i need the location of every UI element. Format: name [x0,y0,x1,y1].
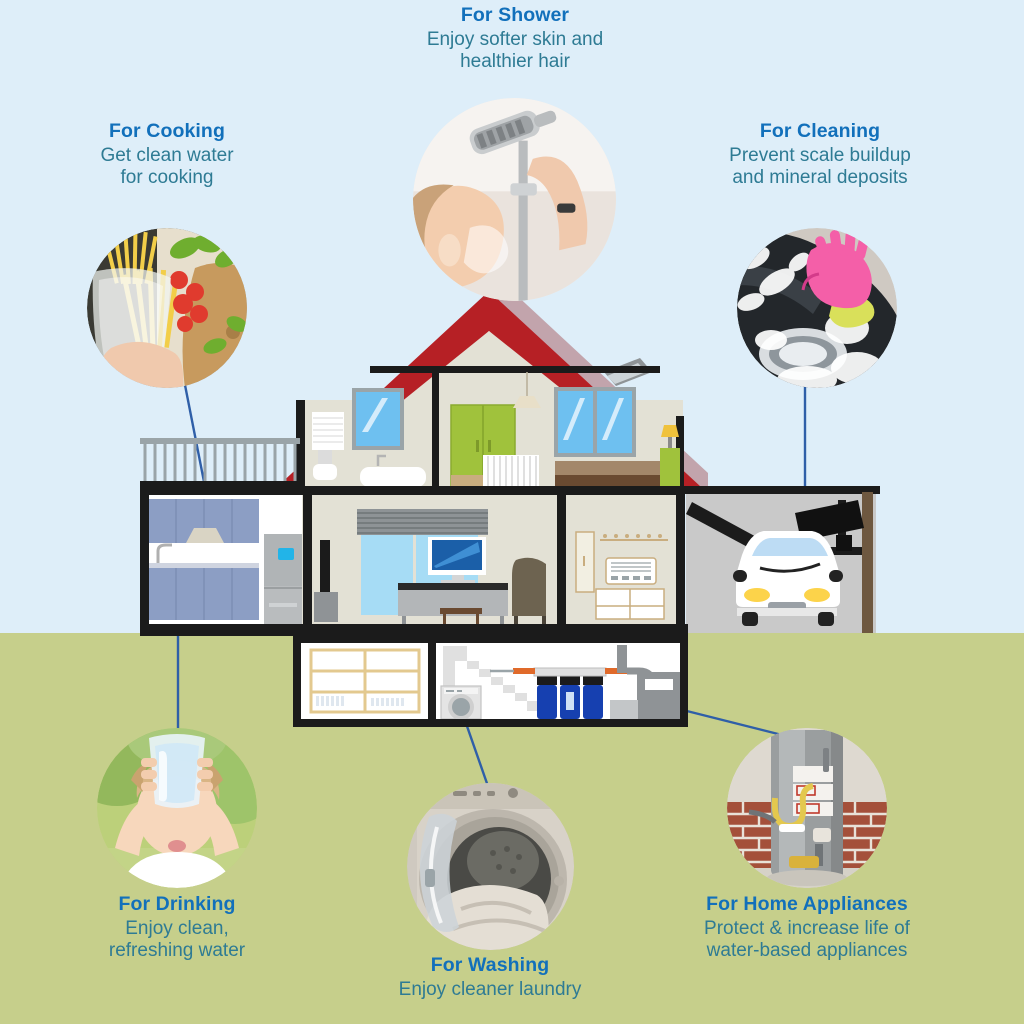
callout-drinking-title: For Drinking [47,893,307,916]
car [733,531,843,626]
photo-washing [407,783,574,950]
callout-drinking-desc: Enjoy clean, refreshing water [47,918,307,963]
infographic-canvas: For Shower Enjoy softer skin and healthi… [0,0,1024,1024]
callout-appliances-desc: Protect & increase life of water-based a… [657,918,957,963]
attic-floor [240,331,684,488]
callout-drinking: For Drinking Enjoy clean, refreshing wat… [47,893,307,963]
callout-cleaning-desc: Prevent scale buildup and mineral deposi… [680,145,960,190]
photo-appliances-art [727,728,887,888]
callout-cooking: For Cooking Get clean water for cooking [42,120,292,190]
callout-washing: For Washing Enjoy cleaner laundry [355,954,625,1001]
kitchen [149,495,302,624]
basement [293,636,688,726]
photo-drinking [97,728,257,888]
radiator-icon [483,455,539,488]
callout-shower-desc: Enjoy softer skin and healthier hair [370,29,660,74]
callout-appliances: For Home Appliances Protect & increase l… [657,893,957,963]
garage [680,486,880,633]
photo-cooking [87,228,247,388]
callout-washing-title: For Washing [355,954,625,977]
attic-bedroom-window [554,387,636,457]
photo-cleaning-art [737,228,897,388]
photo-washing-art [407,783,574,950]
photo-drinking-art [97,728,257,888]
photo-appliances [727,728,887,888]
callout-cooking-title: For Cooking [42,120,292,143]
washing-machine [441,686,481,720]
callout-cleaning-title: For Cleaning [680,120,960,143]
hallway [566,495,676,624]
callout-washing-desc: Enjoy cleaner laundry [355,979,625,1001]
living-room [312,495,557,624]
callout-appliances-title: For Home Appliances [657,893,957,916]
balcony [140,438,300,487]
photo-cooking-art [87,228,247,388]
callout-shower-title: For Shower [370,4,660,27]
photo-shower-art [413,98,616,301]
callout-cleaning: For Cleaning Prevent scale buildup and m… [680,120,960,190]
callout-cooking-desc: Get clean water for cooking [42,145,292,190]
callout-shower: For Shower Enjoy softer skin and healthi… [370,4,660,74]
photo-shower [413,98,616,301]
photo-cleaning [737,228,897,388]
